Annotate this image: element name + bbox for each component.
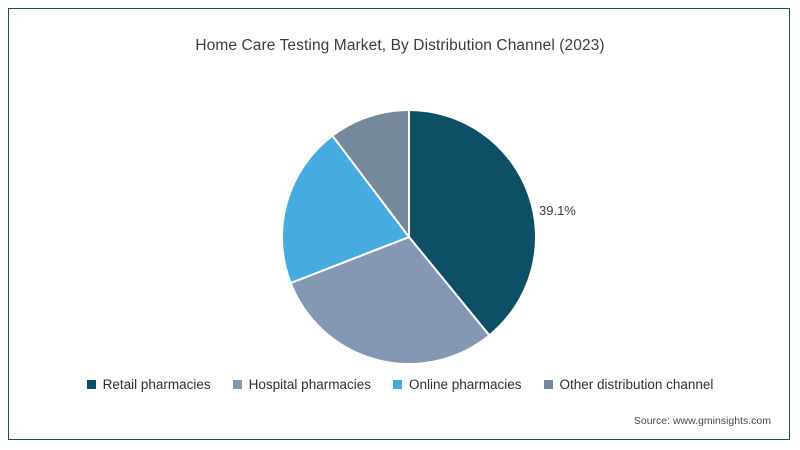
legend-item-hospital-pharmacies[interactable]: Hospital pharmacies <box>233 377 371 392</box>
legend-label-online-pharmacies: Online pharmacies <box>409 377 522 392</box>
legend-swatch-online-pharmacies <box>393 380 402 389</box>
legend-label-other-distribution-channel: Other distribution channel <box>560 377 714 392</box>
pie-slice-group <box>282 110 536 364</box>
legend-label-hospital-pharmacies: Hospital pharmacies <box>249 377 371 392</box>
chart-legend: Retail pharmacies Hospital pharmacies On… <box>9 377 791 392</box>
source-attribution: Source: www.gminsights.com <box>634 415 771 427</box>
legend-item-retail-pharmacies[interactable]: Retail pharmacies <box>87 377 211 392</box>
legend-swatch-retail-pharmacies <box>87 380 96 389</box>
legend-item-other-distribution-channel[interactable]: Other distribution channel <box>544 377 714 392</box>
legend-swatch-other-distribution-channel <box>544 380 553 389</box>
legend-item-online-pharmacies[interactable]: Online pharmacies <box>393 377 522 392</box>
chart-title: Home Care Testing Market, By Distributio… <box>9 37 791 55</box>
pie-chart-plot-area: 39.1% <box>9 95 791 367</box>
legend-label-retail-pharmacies: Retail pharmacies <box>103 377 211 392</box>
chart-frame: Home Care Testing Market, By Distributio… <box>8 8 790 440</box>
legend-swatch-hospital-pharmacies <box>233 380 242 389</box>
pie-chart-svg <box>164 91 634 367</box>
pie-data-label-retail: 39.1% <box>539 203 576 218</box>
